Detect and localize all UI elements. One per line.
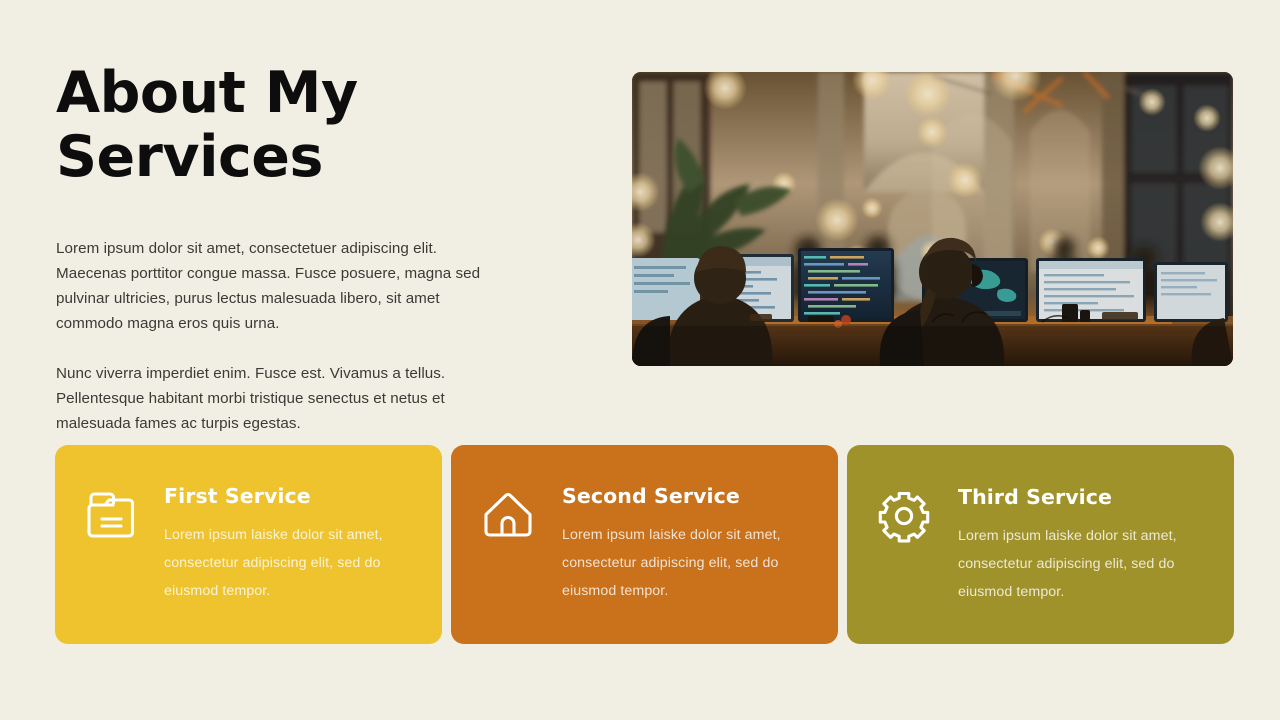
service-card-first[interactable]: First Service Lorem ipsum laiske dolor s… bbox=[55, 445, 442, 644]
gear-icon bbox=[874, 486, 934, 546]
service-card-description: Lorem ipsum laiske dolor sit amet, conse… bbox=[562, 521, 812, 605]
slide-root: About My Services Lorem ipsum dolor sit … bbox=[0, 0, 1280, 720]
intro-paragraph-2: Nunc viverra imperdiet enim. Fusce est. … bbox=[56, 361, 496, 436]
service-card-description: Lorem ipsum laiske dolor sit amet, conse… bbox=[958, 522, 1208, 606]
office-workspace-photo bbox=[632, 72, 1233, 366]
service-card-title: Third Service bbox=[958, 486, 1208, 509]
house-icon bbox=[478, 485, 538, 545]
service-card-text: First Service Lorem ipsum laiske dolor s… bbox=[164, 483, 416, 605]
service-card-text: Second Service Lorem ipsum laiske dolor … bbox=[562, 483, 812, 605]
intro-paragraph-1: Lorem ipsum dolor sit amet, consectetuer… bbox=[56, 236, 508, 336]
service-card-third[interactable]: Third Service Lorem ipsum laiske dolor s… bbox=[847, 445, 1234, 644]
service-card-description: Lorem ipsum laiske dolor sit amet, conse… bbox=[164, 521, 414, 605]
service-card-text: Third Service Lorem ipsum laiske dolor s… bbox=[958, 484, 1208, 606]
page-title: About My Services bbox=[56, 62, 576, 190]
office-photo-illustration bbox=[632, 72, 1233, 366]
folder-icon bbox=[82, 485, 142, 545]
service-card-title: First Service bbox=[164, 485, 416, 508]
service-card-second[interactable]: Second Service Lorem ipsum laiske dolor … bbox=[451, 445, 838, 644]
intro-section: About My Services Lorem ipsum dolor sit … bbox=[56, 62, 576, 436]
service-card-title: Second Service bbox=[562, 485, 812, 508]
services-card-row: First Service Lorem ipsum laiske dolor s… bbox=[55, 445, 1234, 644]
